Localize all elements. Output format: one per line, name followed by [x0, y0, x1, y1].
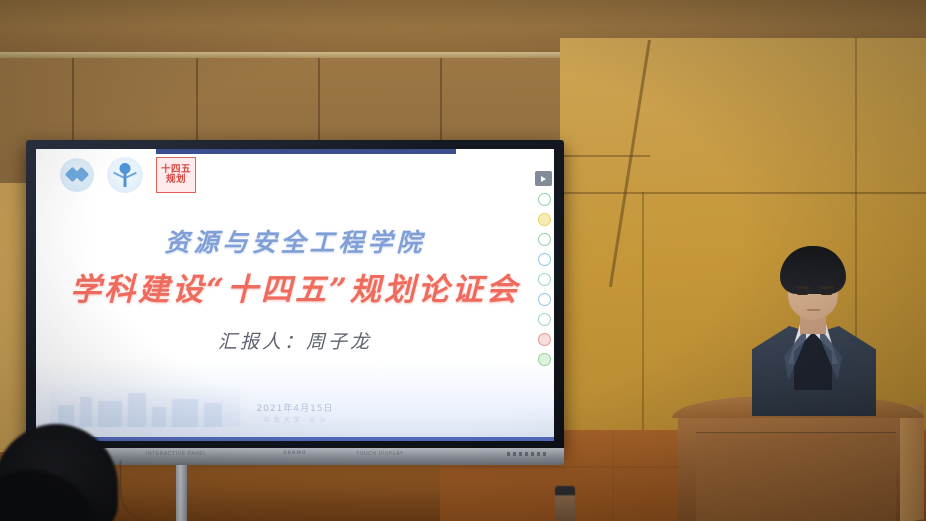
- podium-front-panel: [696, 432, 896, 521]
- slide-bottom-accent: [36, 437, 554, 441]
- slide-campus-watermark: [50, 383, 240, 427]
- display-stand-post: [176, 465, 187, 521]
- interactive-flat-panel-display[interactable]: 十四五 规划 资源与安全工程学院 学科建设“十四五”规划论证会 汇报人：周子龙 …: [26, 140, 564, 470]
- slide-org-line: 资源与安全工程学院: [36, 223, 554, 259]
- wall-lower-seam-v: [612, 430, 614, 521]
- tool-shape-icon[interactable]: [538, 233, 551, 246]
- chevron-right-icon: [541, 176, 546, 182]
- slide-top-accent: [156, 149, 456, 154]
- display-brand-label: seewo: [283, 450, 306, 456]
- presentation-slide: 十四五 规划 资源与安全工程学院 学科建设“十四五”规划论证会 汇报人：周子龙 …: [36, 149, 554, 441]
- podium-side-face: [900, 404, 924, 521]
- tool-select-icon[interactable]: [538, 273, 551, 286]
- display-port-indicators: [507, 452, 546, 456]
- display-bezel: 十四五 规划 资源与安全工程学院 学科建设“十四五”规划论证会 汇报人：周子龙 …: [26, 140, 564, 452]
- wall-seam-v1: [642, 192, 644, 432]
- bezel-label-left: INTERACTIVE PANEL: [146, 451, 207, 457]
- water-bottle: [555, 486, 575, 521]
- annotation-toolbar[interactable]: [536, 193, 552, 366]
- wall-seam-h2: [560, 155, 650, 157]
- conference-photo-scene: 十四五 规划 资源与安全工程学院 学科建设“十四五”规划论证会 汇报人：周子龙 …: [0, 0, 926, 521]
- display-screen[interactable]: 十四五 规划 资源与安全工程学院 学科建设“十四五”规划论证会 汇报人：周子龙 …: [36, 149, 554, 441]
- tool-clear-icon[interactable]: [538, 313, 551, 326]
- tool-eraser-icon[interactable]: [538, 253, 551, 266]
- eye-right: [821, 292, 832, 295]
- stamp-line-2: 规划: [166, 175, 186, 185]
- tool-capture-icon[interactable]: [538, 293, 551, 306]
- wall-seam-h1: [560, 192, 926, 194]
- bezel-label-right: TOUCH DISPLAY: [356, 451, 404, 457]
- eye-left: [797, 292, 808, 295]
- tool-close-icon[interactable]: [538, 353, 551, 366]
- slide-presenter: 汇报人：周子龙: [36, 327, 554, 354]
- tool-pen-icon[interactable]: [538, 193, 551, 206]
- tool-record-icon[interactable]: [538, 333, 551, 346]
- hair: [780, 246, 846, 294]
- university-emblem-icon: [60, 158, 94, 192]
- tool-highlight-icon[interactable]: [538, 213, 551, 226]
- toolbar-collapse-handle[interactable]: [535, 171, 552, 186]
- slide-title: 学科建设“十四五”规划论证会: [36, 264, 554, 309]
- university-seal-icon: [107, 157, 143, 193]
- five-year-plan-stamp: 十四五 规划: [156, 157, 196, 193]
- mouth: [807, 309, 820, 311]
- presenter-person: [736, 246, 896, 411]
- slide-logo-group: 十四五 规划: [60, 157, 196, 193]
